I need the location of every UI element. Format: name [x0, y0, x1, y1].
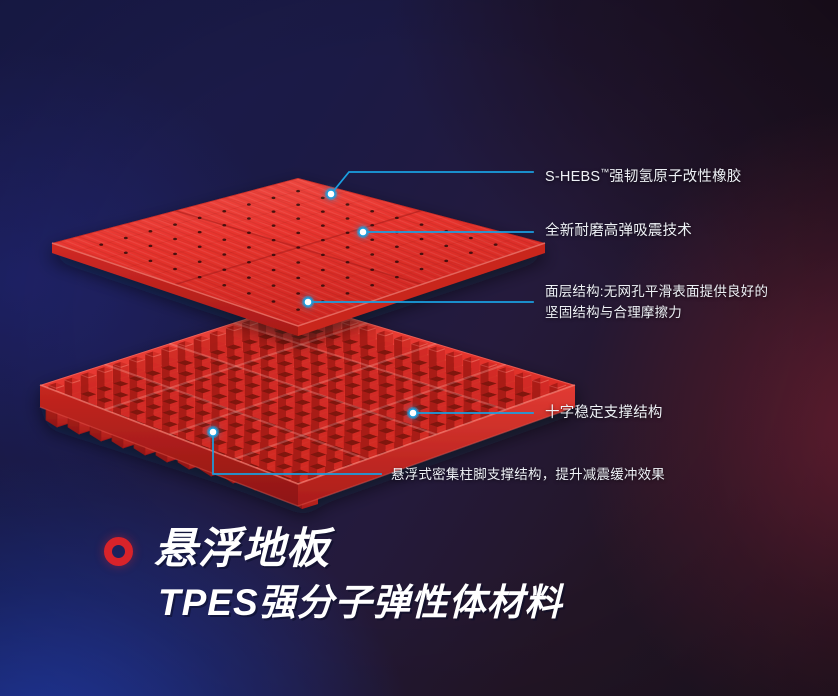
infographic-canvas: S-HEBS™强韧氢原子改性橡胶全新耐磨高弹吸震技术面层结构:无网孔平滑表面提供…	[0, 0, 838, 696]
callout-surface-material: S-HEBS™强韧氢原子改性橡胶	[545, 162, 742, 188]
callout-dot-1[interactable]	[327, 190, 335, 198]
callout-dot-3[interactable]	[304, 298, 312, 306]
product-title: 悬浮地板	[154, 524, 563, 574]
leader-line-1	[331, 172, 533, 194]
callout-cross-support-structure: 十字稳定支撑结构	[545, 403, 663, 424]
trademark-symbol: ™	[600, 167, 609, 177]
callout-dot-4[interactable]	[409, 409, 417, 417]
callout-suspended-column-feet: 悬浮式密集柱脚支撑结构，提升减震缓冲效果	[391, 464, 665, 485]
callout-top-layer-structure: 面层结构:无网孔平滑表面提供良好的 坚固结构与合理摩擦力	[545, 281, 768, 323]
red-ring-icon	[104, 537, 133, 566]
callout-brand: S-HEBS	[545, 169, 600, 185]
callout-text: 强韧氢原子改性橡胶	[609, 169, 741, 185]
title-text-group: 悬浮地板 TPES强分子弹性体材料	[154, 524, 563, 626]
callout-dot-2[interactable]	[359, 228, 367, 236]
callout-dot-5[interactable]	[209, 428, 217, 436]
product-subtitle: TPES强分子弹性体材料	[158, 580, 563, 626]
top-perforated-panel	[52, 178, 545, 336]
title-block: 悬浮地板 TPES强分子弹性体材料	[104, 524, 563, 626]
callout-wear-technology: 全新耐磨高弹吸震技术	[545, 221, 692, 242]
